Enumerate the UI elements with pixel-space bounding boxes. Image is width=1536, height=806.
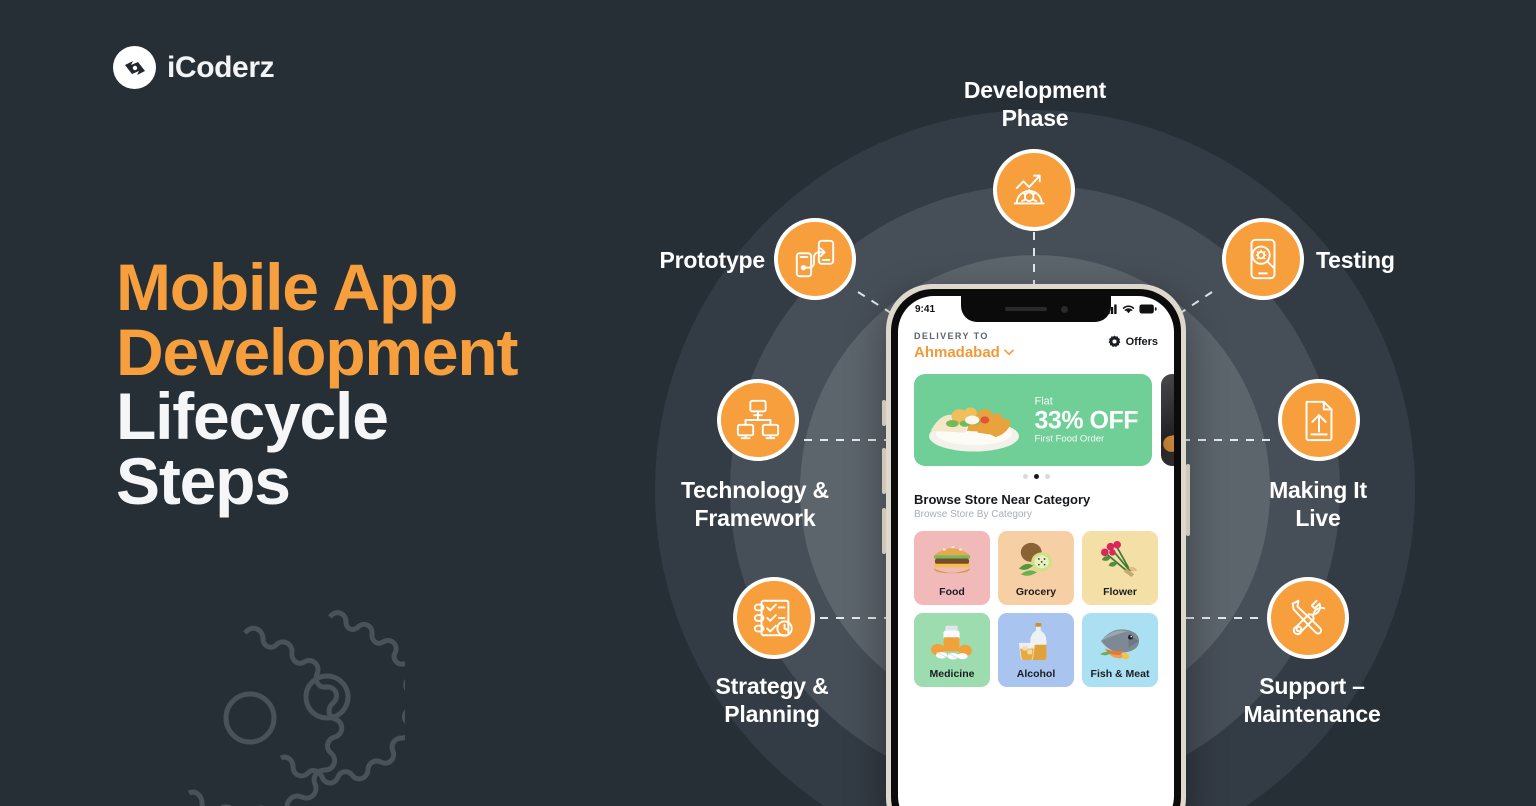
node-label-technology-framework: Technology & Framework [648,476,862,532]
category-card-flower[interactable]: Flower [1082,531,1158,605]
offers-badge-icon [1108,335,1121,348]
headline-line-3: Lifecycle [116,384,517,449]
app-header: DELIVERY TO Ahmadabad O [898,322,1174,365]
document-upload-icon[interactable] [1278,379,1360,461]
node-label-strategy-planning: Strategy & Planning [665,672,879,728]
phone-volume-down-button[interactable] [882,508,886,554]
node-label-development-phase: Development Phase [930,76,1140,132]
kiwi-icon [1013,540,1059,578]
city-name: Ahmadabad [914,344,1000,361]
category-name: Flower [1103,586,1137,598]
headline-line-2: Development [116,320,517,385]
wifi-icon [1122,304,1135,314]
network-monitors-icon[interactable] [717,379,799,461]
phone-bug-magnifier-icon[interactable] [1222,218,1304,300]
headline-line-1: Mobile App [116,255,517,320]
growth-chart-gear-icon[interactable] [993,149,1075,231]
status-icons [1104,304,1157,314]
flower-bouquet-icon [1097,540,1143,578]
phone-mute-button[interactable] [882,400,886,426]
browse-title: Browse Store Near Category [914,492,1158,507]
battery-full-icon [1139,304,1157,314]
promo-carousel[interactable]: Flat 33% OFF First Food Order [898,374,1174,466]
browse-subtitle: Browse Store By Category [914,509,1158,520]
category-grid: Food [898,520,1174,687]
delivery-location-block[interactable]: DELIVERY TO Ahmadabad [914,331,1014,361]
promo-banner-text: Flat 33% OFF First Food Order [1035,395,1138,444]
phone-bezel: 9:41 [891,289,1181,806]
category-name: Alcohol [1017,668,1056,680]
category-name: Grocery [1016,586,1056,598]
node-label-prototype: Prototype [565,246,765,274]
headline-line-4: Steps [116,449,517,514]
infographic-canvas: iCoderz Mobile App Development Lifecycle… [0,0,1536,806]
medicine-bottle-icon [929,622,975,660]
carousel-dot-1[interactable] [1023,474,1028,479]
carousel-dot-2[interactable] [1034,474,1039,479]
category-name: Medicine [930,668,975,680]
brand-logo[interactable]: iCoderz [113,46,274,89]
promo-next-art [1162,431,1174,454]
promo-headline: 33% OFF [1035,407,1138,433]
category-card-medicine[interactable]: Medicine [914,613,990,687]
category-card-food[interactable]: Food [914,531,990,605]
promo-banner-next[interactable] [1161,374,1174,466]
brand-name: iCoderz [167,51,274,85]
phone-mockup: 9:41 [886,284,1186,806]
fish-icon [1097,622,1143,660]
promo-subtext: First Food Order [1035,434,1138,445]
category-name: Fish & Meat [1091,668,1150,680]
icoderz-logo-icon [113,46,156,89]
category-name: Food [939,586,965,598]
node-label-making-it-live: Making It Live [1215,476,1421,532]
node-label-support-maintenance: Support – Maintenance [1204,672,1420,728]
fried-food-plate-icon [920,384,1028,456]
two-phones-link-icon[interactable] [774,218,856,300]
phone-screen: 9:41 [898,296,1174,806]
offers-label: Offers [1126,336,1158,348]
checklist-clock-icon[interactable] [733,577,815,659]
delivery-to-label: DELIVERY TO [914,331,1014,341]
offers-button[interactable]: Offers [1108,335,1158,348]
liquor-bottle-icon [1013,622,1059,660]
phone-power-button[interactable] [1186,464,1190,536]
gears-outline-icon [175,585,405,806]
browse-section: Browse Store Near Category Browse Store … [898,479,1174,520]
node-label-testing: Testing [1316,246,1516,274]
promo-eyebrow: Flat [1035,395,1138,407]
chevron-down-icon [1004,349,1014,356]
burger-icon [929,540,975,578]
promo-banner-active[interactable]: Flat 33% OFF First Food Order [914,374,1152,466]
status-bar: 9:41 [898,296,1174,322]
page-title: Mobile App Development Lifecycle Steps [116,255,517,514]
carousel-dot-3[interactable] [1045,474,1050,479]
status-time: 9:41 [915,304,935,315]
wrench-screwdriver-icon[interactable] [1267,577,1349,659]
city-selector[interactable]: Ahmadabad [914,344,1014,361]
category-card-alcohol[interactable]: Alcohol [998,613,1074,687]
cellular-bars-icon [1104,304,1118,314]
phone-volume-up-button[interactable] [882,448,886,494]
category-card-grocery[interactable]: Grocery [998,531,1074,605]
category-card-fish-meat[interactable]: Fish & Meat [1082,613,1158,687]
